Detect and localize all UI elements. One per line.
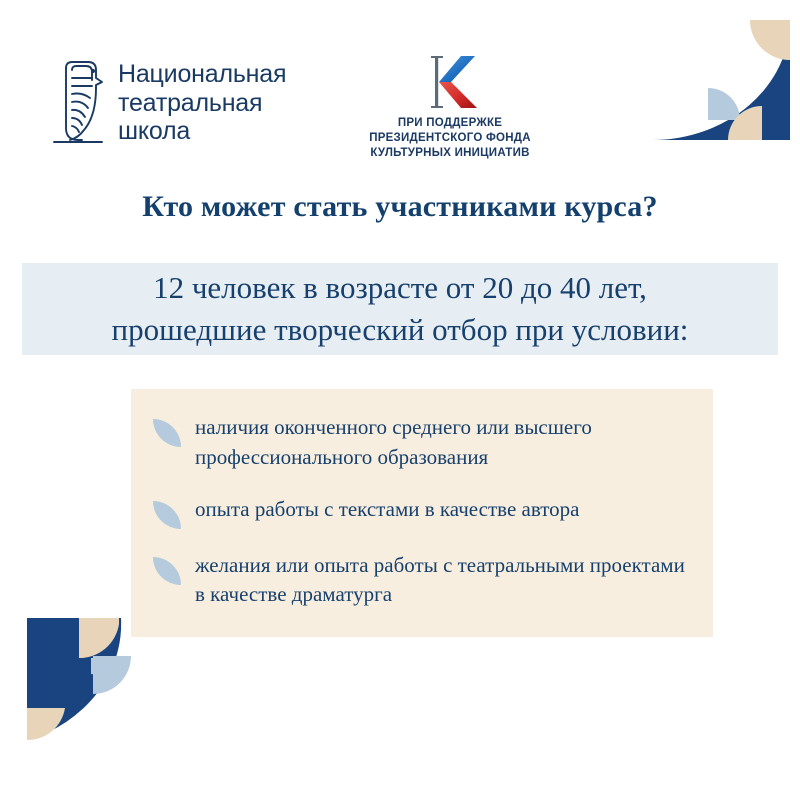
bullet-petal-icon <box>153 557 181 585</box>
school-logo-text: Национальная театральная школа <box>118 58 286 146</box>
requirements-list: наличия оконченного среднего или высшего… <box>153 413 697 610</box>
school-logo-line-3: школа <box>118 117 286 146</box>
school-logo-line-1: Национальная <box>118 60 286 89</box>
banner-line-1: 12 человек в возрасте от 20 до 40 лет, <box>153 267 647 309</box>
fund-logo-line-2: ПРЕЗИДЕНТСКОГО ФОНДА <box>350 131 550 146</box>
highlight-banner: 12 человек в возрасте от 20 до 40 лет, п… <box>22 263 778 355</box>
requirements-box: наличия оконченного среднего или высшего… <box>131 389 713 637</box>
school-logo-line-2: театральная <box>118 89 286 118</box>
fund-logo-line-3: КУЛЬТУРНЫХ ИНИЦИАТИВ <box>350 146 550 161</box>
fund-logo-text: ПРИ ПОДДЕРЖКЕ ПРЕЗИДЕНТСКОГО ФОНДА КУЛЬТ… <box>350 116 550 162</box>
poster-canvas: Национальная театральная школа <box>0 0 800 800</box>
presidential-fund-k-icon <box>417 52 483 112</box>
requirement-text: опыта работы с текстами в качестве автор… <box>195 495 579 525</box>
owl-bird-icon <box>52 58 104 146</box>
page-title: Кто может стать участниками курса? <box>0 190 800 224</box>
list-item: желания или опыта работы с театральными … <box>153 551 697 611</box>
list-item: наличия оконченного среднего или высшего… <box>153 413 697 473</box>
list-item: опыта работы с текстами в качестве автор… <box>153 495 697 529</box>
school-logo: Национальная театральная школа <box>52 58 286 146</box>
header: Национальная театральная школа <box>0 0 800 170</box>
banner-line-2: прошедшие творческий отбор при условии: <box>112 309 689 351</box>
requirement-text: наличия оконченного среднего или высшего… <box>195 413 697 473</box>
requirement-text: желания или опыта работы с театральными … <box>195 551 697 611</box>
fund-logo: ПРИ ПОДДЕРЖКЕ ПРЕЗИДЕНТСКОГО ФОНДА КУЛЬТ… <box>350 52 550 162</box>
bullet-petal-icon <box>153 501 181 529</box>
bullet-petal-icon <box>153 419 181 447</box>
fund-logo-line-1: ПРИ ПОДДЕРЖКЕ <box>350 116 550 131</box>
